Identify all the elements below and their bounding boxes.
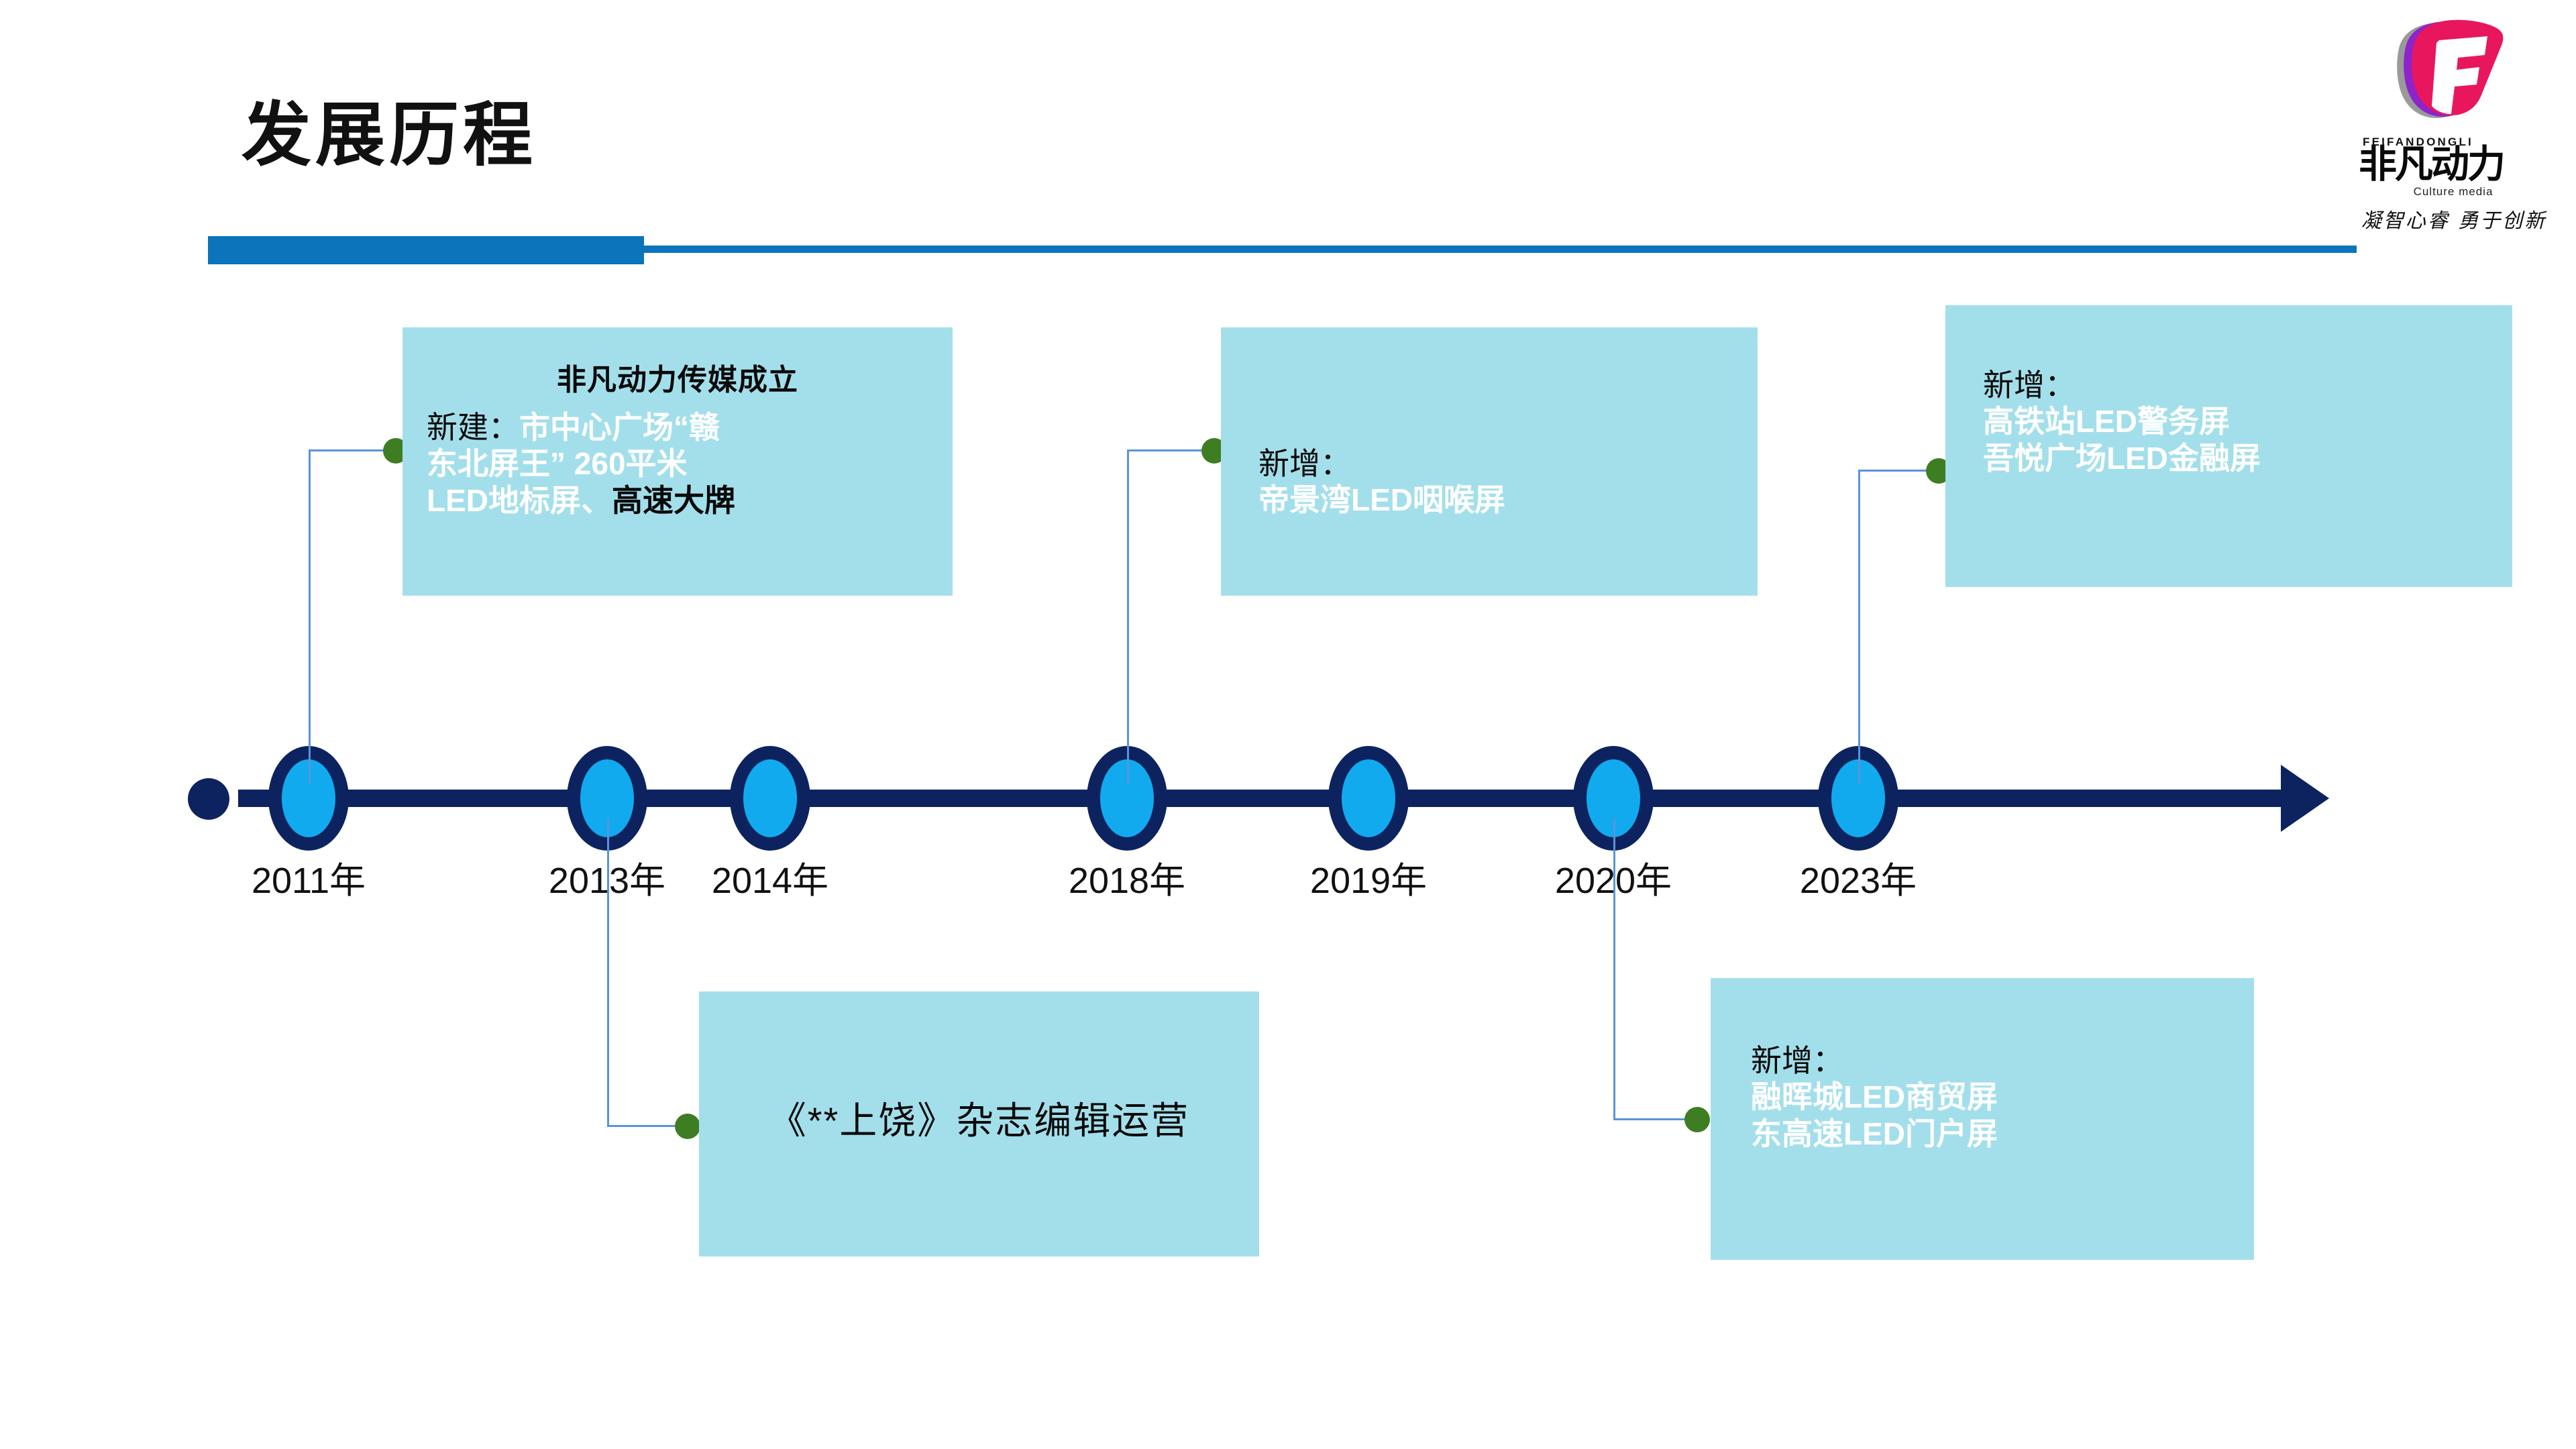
card-line-2023-3: 吾悦广场LED金融屏	[1983, 440, 2488, 476]
title-underline-thick	[208, 236, 644, 264]
event-card-2011[interactable]: 非凡动力传媒成立 新建：市中心广场“赣 东北屏王” 260平米 LED地标屏、高…	[402, 327, 953, 596]
card-hl-2020-a: 融晖城LED商贸屏	[1751, 1079, 1998, 1114]
timeline-axis	[238, 790, 2308, 807]
card-line-2013-1: 《**上饶》杂志编辑运营	[712, 1091, 1246, 1145]
card-line-2020-2: 融晖城LED商贸屏	[1751, 1079, 2234, 1115]
event-card-2018[interactable]: 新增： 帝景湾LED咽喉屏	[1221, 327, 1758, 596]
card-hlk-2011: 高速大牌	[612, 483, 735, 518]
card-hl-2020-b: 东高速LED门户屏	[1751, 1116, 1998, 1151]
timeline-year-2014: 2014年	[712, 851, 828, 904]
card-hl-2023-a: 高铁站LED警务屏	[1983, 404, 2230, 439]
timeline-year-2019: 2019年	[1310, 851, 1427, 904]
logo-name-cn: 非凡动力	[2359, 145, 2546, 185]
event-card-2020[interactable]: 新增： 融晖城LED商贸屏 东高速LED门户屏	[1711, 978, 2254, 1260]
feifandongli-f-mark-icon	[2375, 13, 2509, 134]
card-line-2011-3: LED地标屏、高速大牌	[427, 482, 928, 519]
card-hl-2011-b: 东北屏王” 260平米	[427, 446, 688, 481]
timeline-start-dot	[188, 778, 229, 820]
card-hl-2011-c: LED地标屏、	[427, 483, 612, 518]
connector-dot-2020	[1684, 1107, 1710, 1132]
card-hl-2018: 帝景湾LED咽喉屏	[1258, 482, 1505, 517]
card-line-2018-1: 新增：	[1258, 445, 1733, 482]
card-label-2023: 新增：	[1983, 368, 2076, 402]
event-card-2013[interactable]: 《**上饶》杂志编辑运营	[699, 991, 1259, 1256]
card-line-2020-1: 新增：	[1751, 1042, 2234, 1079]
title-underline-thin	[643, 246, 2357, 253]
card-label-2018: 新增：	[1258, 446, 1351, 481]
card-line-2023-1: 新增：	[1983, 367, 2488, 403]
card-hl-2023-b: 吾悦广场LED金融屏	[1983, 441, 2261, 476]
card-hl-2011-a: 市中心广场“赣	[519, 410, 720, 445]
timeline-year-2011: 2011年	[252, 851, 366, 904]
card-label-2020: 新增：	[1751, 1043, 1843, 1078]
timeline-year-2018: 2018年	[1069, 851, 1185, 904]
logo-tagline: 凝智心睿 勇于创新	[2353, 204, 2555, 233]
logo-sub-en: Culture media	[2363, 185, 2544, 199]
timeline-year-2023: 2023年	[1800, 851, 1917, 904]
brand-logo: FEIFANDONGLI 非凡动力 Culture media 凝智心睿 勇于创…	[2341, 13, 2563, 228]
card-label-2011: 新建：	[427, 410, 519, 445]
page-title: 发展历程	[241, 101, 537, 170]
card-line-2023-2: 高铁站LED警务屏	[1983, 403, 2488, 439]
card-line-2020-3: 东高速LED门户屏	[1751, 1116, 2234, 1152]
card-line-2011-1: 新建：市中心广场“赣	[427, 409, 928, 445]
timeline-node-2019[interactable]	[1328, 746, 1409, 851]
card-line-2011-2: 东北屏王” 260平米	[427, 445, 928, 482]
card-title-2011: 非凡动力传媒成立	[427, 356, 928, 398]
connector-dot-2013	[675, 1114, 700, 1139]
card-line-2018-2: 帝景湾LED咽喉屏	[1258, 482, 1733, 518]
timeline-arrow-icon	[2281, 765, 2329, 832]
timeline-node-2014[interactable]	[730, 746, 810, 851]
event-card-2023[interactable]: 新增： 高铁站LED警务屏 吾悦广场LED金融屏	[1945, 305, 2512, 587]
